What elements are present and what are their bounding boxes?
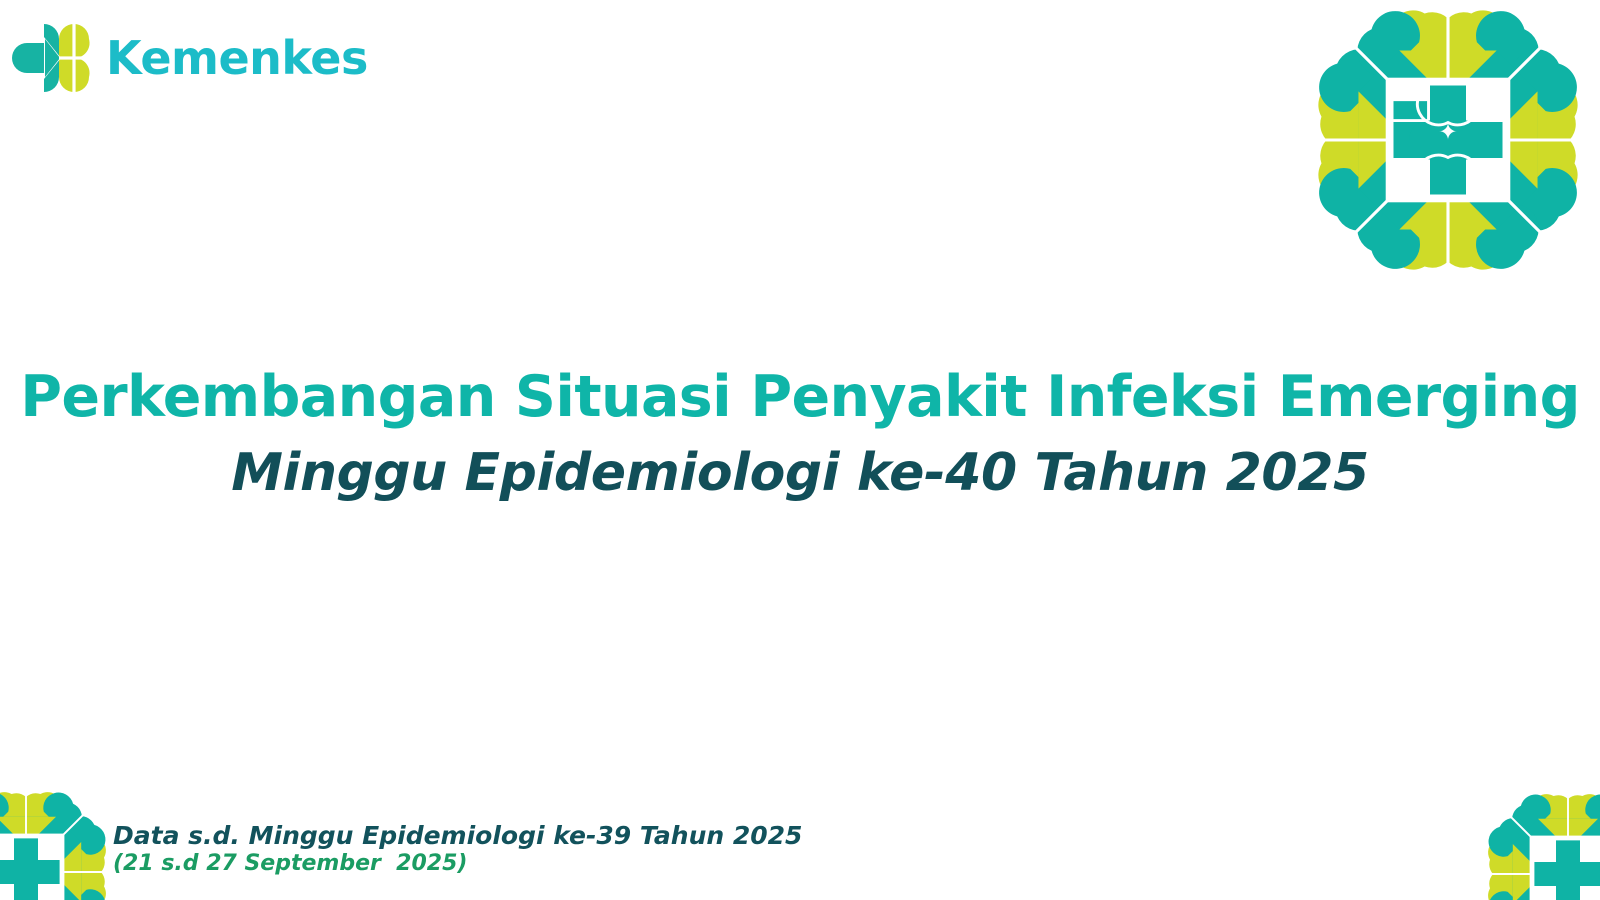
slide-canvas: Kemenkes: [0, 0, 1600, 900]
footer-date-range: (21 s.d 27 September 2025): [113, 851, 802, 878]
page-subtitle: Minggu Epidemiologi ke-40 Tahun 2025: [0, 445, 1600, 501]
kemenkes-logo: Kemenkes: [8, 12, 368, 104]
kemenkes-flower-emblem-icon: [1298, 0, 1598, 286]
kemenkes-wordmark: Kemenkes: [106, 35, 368, 81]
page-title: Perkembangan Situasi Penyakit Infeksi Em…: [0, 368, 1600, 427]
footer-block: Data s.d. Minggu Epidemiologi ke-39 Tahu…: [113, 821, 802, 878]
title-block: Perkembangan Situasi Penyakit Infeksi Em…: [0, 368, 1600, 501]
kemenkes-corner-emblem-bottom-right-icon: [1478, 784, 1600, 900]
footer-data-period: Data s.d. Minggu Epidemiologi ke-39 Tahu…: [113, 821, 802, 852]
kemenkes-petal-logo-icon: [8, 12, 96, 104]
kemenkes-corner-emblem-bottom-left-icon: [0, 782, 116, 900]
